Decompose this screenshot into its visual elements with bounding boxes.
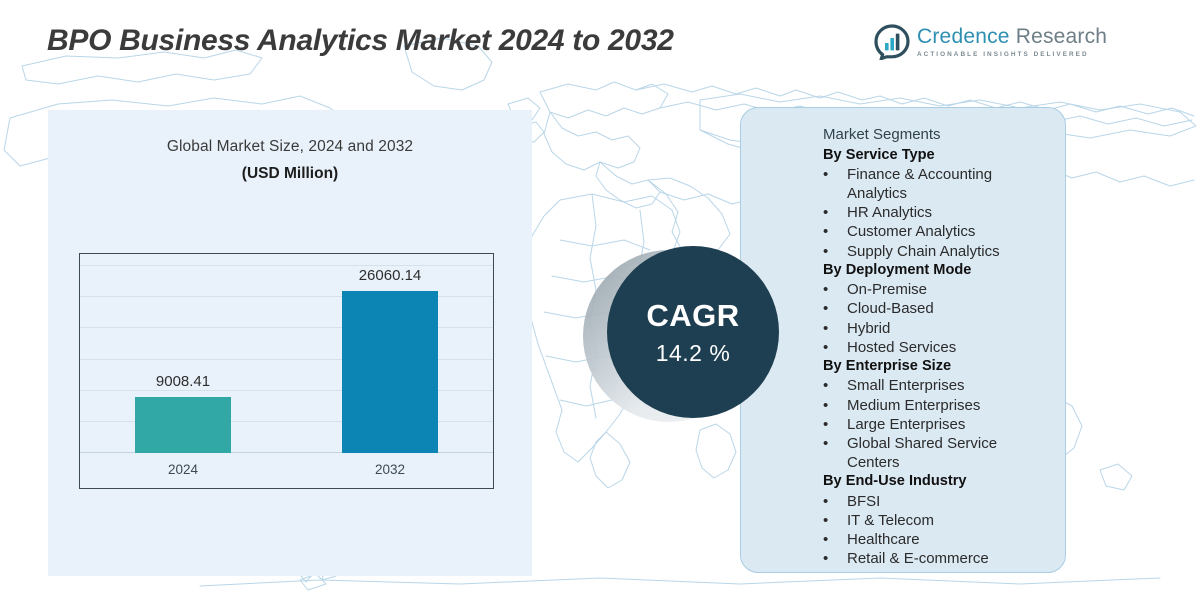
segment-item-label: Medium Enterprises xyxy=(847,396,1053,415)
bullet-icon: • xyxy=(823,376,847,395)
bar-column: 9008.412024 xyxy=(135,397,231,453)
segment-item-label: Finance & Accounting Analytics xyxy=(847,165,1053,203)
segment-group-title: By Service Type xyxy=(823,146,1053,165)
bullet-icon: • xyxy=(823,165,847,203)
segment-item: •Global Shared Service Centers xyxy=(823,434,1053,472)
segment-item: •Supply Chain Analytics xyxy=(823,242,1053,261)
bar-category-label: 2032 xyxy=(375,462,405,477)
segment-item: •Medium Enterprises xyxy=(823,396,1053,415)
segment-item: •Large Enterprises xyxy=(823,415,1053,434)
segment-item-label: Supply Chain Analytics xyxy=(847,242,1053,261)
market-segments-panel: Market Segments By Service Type•Finance … xyxy=(740,107,1066,573)
bullet-icon: • xyxy=(823,492,847,511)
bar xyxy=(342,291,438,453)
bullet-icon: • xyxy=(823,299,847,318)
infographic-canvas: BPO Business Analytics Market 2024 to 20… xyxy=(0,0,1200,597)
chart-title: Global Market Size, 2024 and 2032 xyxy=(48,138,532,156)
segment-item-label: Hybrid xyxy=(847,319,1053,338)
segment-item-label: BFSI xyxy=(847,492,1053,511)
chart-heading: Global Market Size, 2024 and 2032 (USD M… xyxy=(48,138,532,183)
bar-chart: 9008.41202426060.142032 xyxy=(79,253,494,489)
bullet-icon: • xyxy=(823,319,847,338)
cagr-badge: CAGR 14.2 % xyxy=(583,246,778,438)
cagr-value: 14.2 % xyxy=(656,342,731,365)
segment-item: •Small Enterprises xyxy=(823,376,1053,395)
segment-item-label: Retail & E-commerce xyxy=(847,549,1053,568)
chart-bubble-icon xyxy=(874,24,910,60)
bar-column: 26060.142032 xyxy=(342,291,438,453)
brand-logo-text: Credence Research Actionable Insights De… xyxy=(917,26,1107,57)
bar-value-label: 9008.41 xyxy=(156,373,210,390)
segment-item-label: Hosted Services xyxy=(847,338,1053,357)
segment-item-label: Global Shared Service Centers xyxy=(847,434,1053,472)
segment-item: •IT & Telecom xyxy=(823,511,1053,530)
bullet-icon: • xyxy=(823,434,847,472)
market-segments-list: By Service Type•Finance & Accounting Ana… xyxy=(823,146,1053,569)
bullet-icon: • xyxy=(823,415,847,434)
bar xyxy=(135,397,231,453)
segment-item: •Customer Analytics xyxy=(823,222,1053,241)
segment-item-label: Customer Analytics xyxy=(847,222,1053,241)
brand-tagline: Actionable Insights Delivered xyxy=(917,51,1107,58)
segment-item-label: Healthcare xyxy=(847,530,1053,549)
bullet-icon: • xyxy=(823,242,847,261)
segment-item: •Hosted Services xyxy=(823,338,1053,357)
bullet-icon: • xyxy=(823,549,847,568)
segment-item: •Retail & E-commerce xyxy=(823,549,1053,568)
bullet-icon: • xyxy=(823,203,847,222)
bullet-icon: • xyxy=(823,338,847,357)
segment-item: •HR Analytics xyxy=(823,203,1053,222)
page-title: BPO Business Analytics Market 2024 to 20… xyxy=(47,24,674,58)
chart-plot-area: 9008.41202426060.142032 xyxy=(80,254,493,488)
segment-item-label: Large Enterprises xyxy=(847,415,1053,434)
brand-name-primary: Credence xyxy=(917,25,1010,48)
segment-item: •On-Premise xyxy=(823,280,1053,299)
brand-logo: Credence Research Actionable Insights De… xyxy=(874,24,1107,60)
segment-item-label: IT & Telecom xyxy=(847,511,1053,530)
segment-group-title: By End-Use Industry xyxy=(823,472,1053,491)
cagr-circle: CAGR 14.2 % xyxy=(607,246,779,418)
bar-category-label: 2024 xyxy=(168,462,198,477)
bullet-icon: • xyxy=(823,396,847,415)
segment-item: •Healthcare xyxy=(823,530,1053,549)
segment-item: •Finance & Accounting Analytics xyxy=(823,165,1053,203)
bullet-icon: • xyxy=(823,222,847,241)
bar-value-label: 26060.14 xyxy=(359,267,422,284)
segment-item: •Hybrid xyxy=(823,319,1053,338)
segment-item-label: Small Enterprises xyxy=(847,376,1053,395)
market-segments-heading: Market Segments xyxy=(823,125,1053,145)
chart-subtitle: (USD Million) xyxy=(48,165,532,183)
cagr-label: CAGR xyxy=(646,300,739,331)
bullet-icon: • xyxy=(823,530,847,549)
segment-item: •Cloud-Based xyxy=(823,299,1053,318)
bullet-icon: • xyxy=(823,511,847,530)
bullet-icon: • xyxy=(823,280,847,299)
segment-item-label: Cloud-Based xyxy=(847,299,1053,318)
segment-item-label: On-Premise xyxy=(847,280,1053,299)
brand-name: Credence Research xyxy=(917,26,1107,48)
segment-item-label: HR Analytics xyxy=(847,203,1053,222)
segment-group-title: By Deployment Mode xyxy=(823,261,1053,280)
segment-item: •BFSI xyxy=(823,492,1053,511)
brand-name-secondary: Research xyxy=(1016,25,1107,48)
segment-group-title: By Enterprise Size xyxy=(823,357,1053,376)
